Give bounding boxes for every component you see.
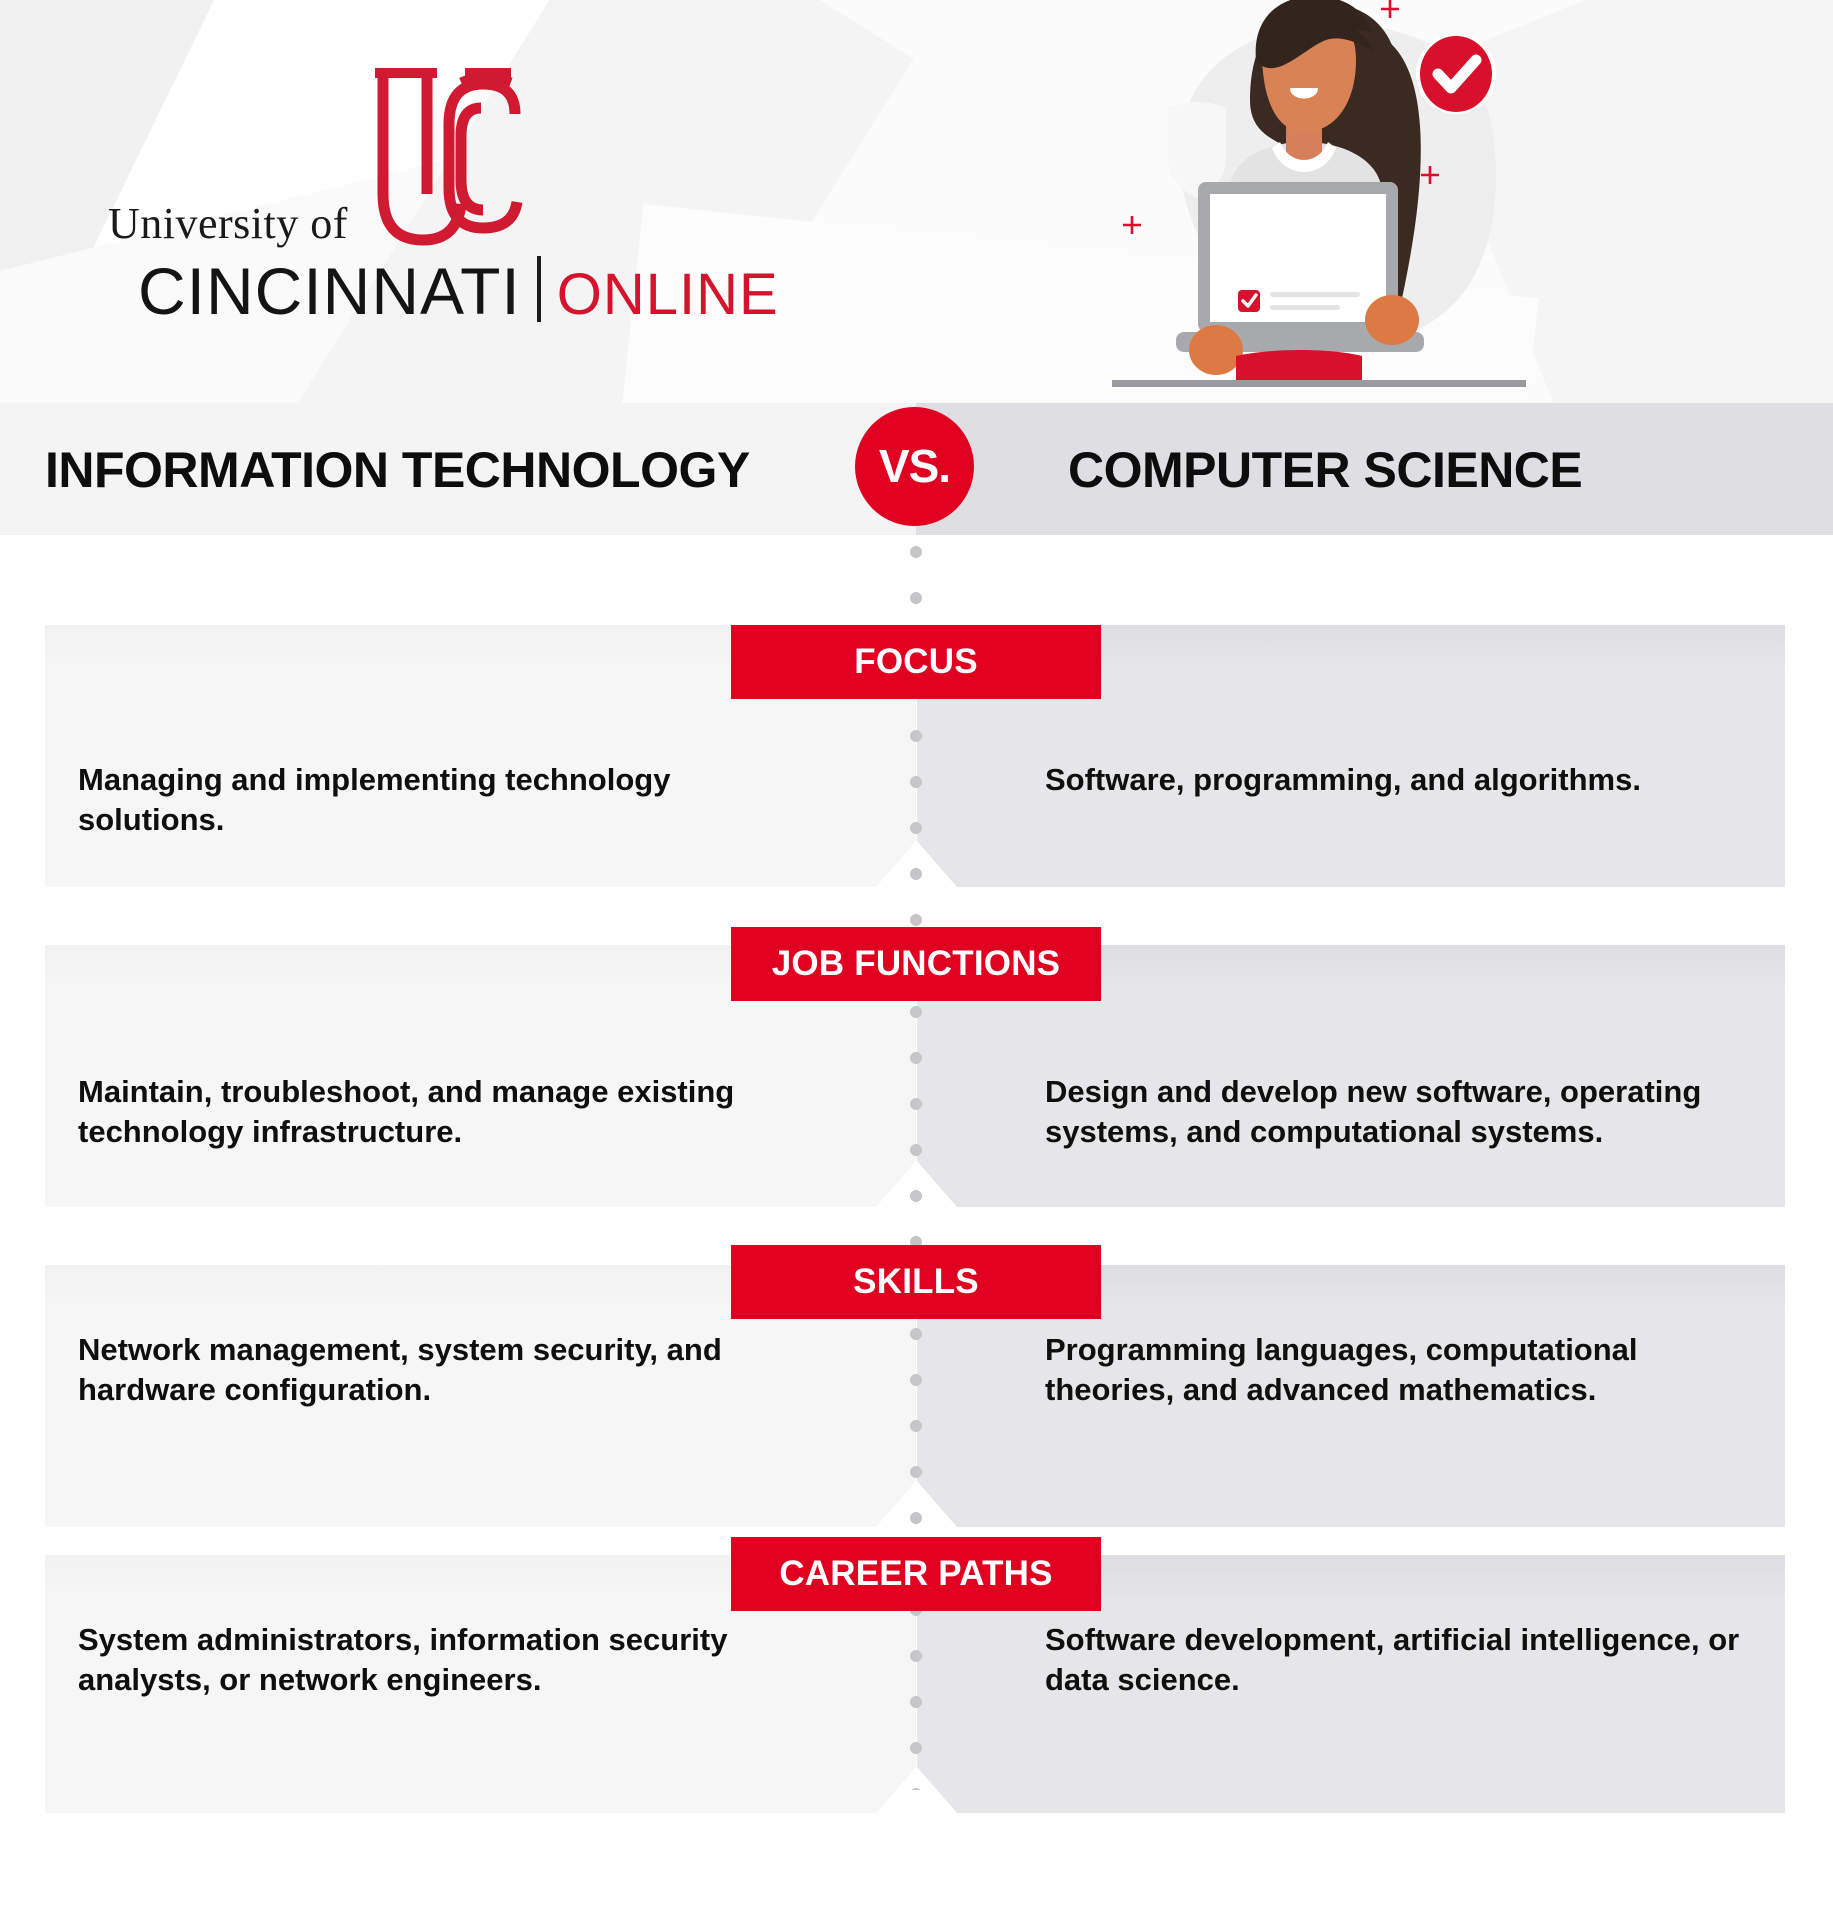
panel-left-text: System administrators, information secur… bbox=[78, 1620, 778, 1701]
versus-label: VS. bbox=[879, 439, 950, 493]
category-label-text: JOB FUNCTIONS bbox=[772, 944, 1060, 984]
category-label: JOB FUNCTIONS bbox=[731, 927, 1101, 1001]
logo-university-text: University of bbox=[108, 198, 348, 249]
versus-badge: VS. bbox=[855, 407, 974, 526]
panel-right-text: Software, programming, and algorithms. bbox=[1045, 760, 1765, 800]
logo-divider bbox=[537, 256, 541, 322]
category-label-text: CAREER PATHS bbox=[779, 1554, 1052, 1594]
category-label: SKILLS bbox=[731, 1245, 1101, 1319]
category-label: FOCUS bbox=[731, 625, 1101, 699]
panel-notch-right bbox=[917, 841, 957, 887]
hand-right bbox=[1365, 295, 1419, 345]
panel-right-text: Software development, artificial intelli… bbox=[1045, 1620, 1765, 1701]
panel-right-text: Design and develop new software, operati… bbox=[1045, 1072, 1765, 1153]
panel-left-text: Network management, system security, and… bbox=[78, 1330, 778, 1411]
hand-left bbox=[1189, 325, 1243, 375]
logo-online-text: ONLINE bbox=[557, 261, 779, 328]
woman-at-laptop-illustration bbox=[1090, 0, 1590, 400]
logo-wordmark-row: CINCINNATI ONLINE bbox=[138, 248, 779, 329]
panel-notch-right bbox=[917, 1767, 957, 1813]
category-label: CAREER PATHS bbox=[731, 1537, 1101, 1611]
panel-left-text: Managing and implementing technology sol… bbox=[78, 760, 778, 841]
uc-online-logo: University of CINCINNATI ONLINE bbox=[100, 70, 760, 300]
category-label-text: SKILLS bbox=[853, 1262, 979, 1302]
logo-cincinnati-text: CINCINNATI bbox=[138, 253, 521, 329]
panel-right-text: Programming languages, computational the… bbox=[1045, 1330, 1765, 1411]
header-right-title: COMPUTER SCIENCE bbox=[1068, 441, 1582, 499]
panel-left-text: Maintain, troubleshoot, and manage exist… bbox=[78, 1072, 778, 1153]
check-circle-icon bbox=[1420, 36, 1492, 112]
header-left-title: INFORMATION TECHNOLOGY bbox=[45, 441, 750, 499]
uc-monogram-icon bbox=[365, 62, 545, 267]
panel-notch-right bbox=[917, 1481, 957, 1527]
panel-notch-right bbox=[917, 1161, 957, 1207]
category-label-text: FOCUS bbox=[854, 642, 978, 682]
